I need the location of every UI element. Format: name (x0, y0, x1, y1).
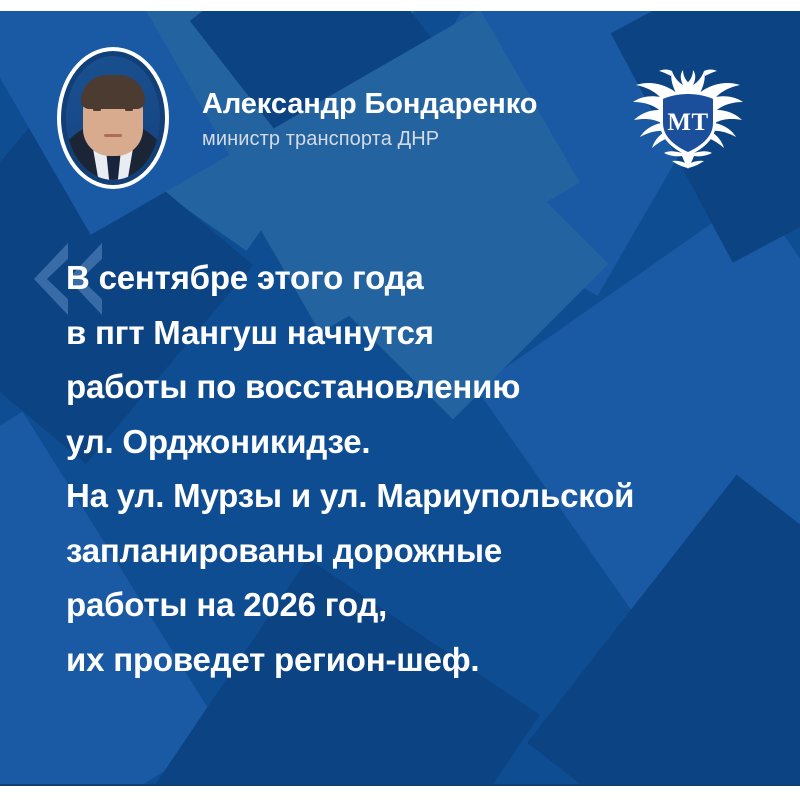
portrait-eye-left (93, 108, 101, 111)
quote-line: запланированы дорожные (66, 524, 782, 579)
quote-line: На ул. Мурзы и ул. Мариупольской (66, 469, 782, 524)
emblem-letters: МТ (628, 109, 748, 137)
quote-line: работы по восстановлению (66, 360, 782, 415)
quote-line: работы на 2026 год, (66, 578, 782, 633)
portrait-hair (81, 75, 145, 109)
speaker-role: министр транспорта ДНР (202, 128, 537, 151)
quote-line: В сентябре этого года (66, 251, 782, 306)
quote-card: Александр Бондаренко министр транспорта … (0, 0, 800, 800)
portrait-mouth (104, 134, 122, 137)
avatar-portrait (66, 56, 160, 180)
quote-line: их проведет регион-шеф. (66, 633, 782, 688)
quote-line: в пгт Мангуш начнутся (66, 306, 782, 361)
card-header: Александр Бондаренко министр транспорта … (0, 11, 800, 211)
avatar (57, 47, 169, 189)
quote-line: ул. Орджоникидзе. (66, 415, 782, 470)
speaker-block: Александр Бондаренко министр транспорта … (202, 89, 537, 151)
quote-text: В сентябре этого года в пгт Мангуш начну… (66, 251, 782, 687)
card-canvas: Александр Бондаренко министр транспорта … (0, 11, 800, 786)
speaker-name: Александр Бондаренко (202, 89, 537, 121)
portrait-eye-right (125, 108, 133, 111)
ministry-emblem-icon: МТ (628, 57, 748, 181)
chevron-left-icon (34, 243, 68, 315)
